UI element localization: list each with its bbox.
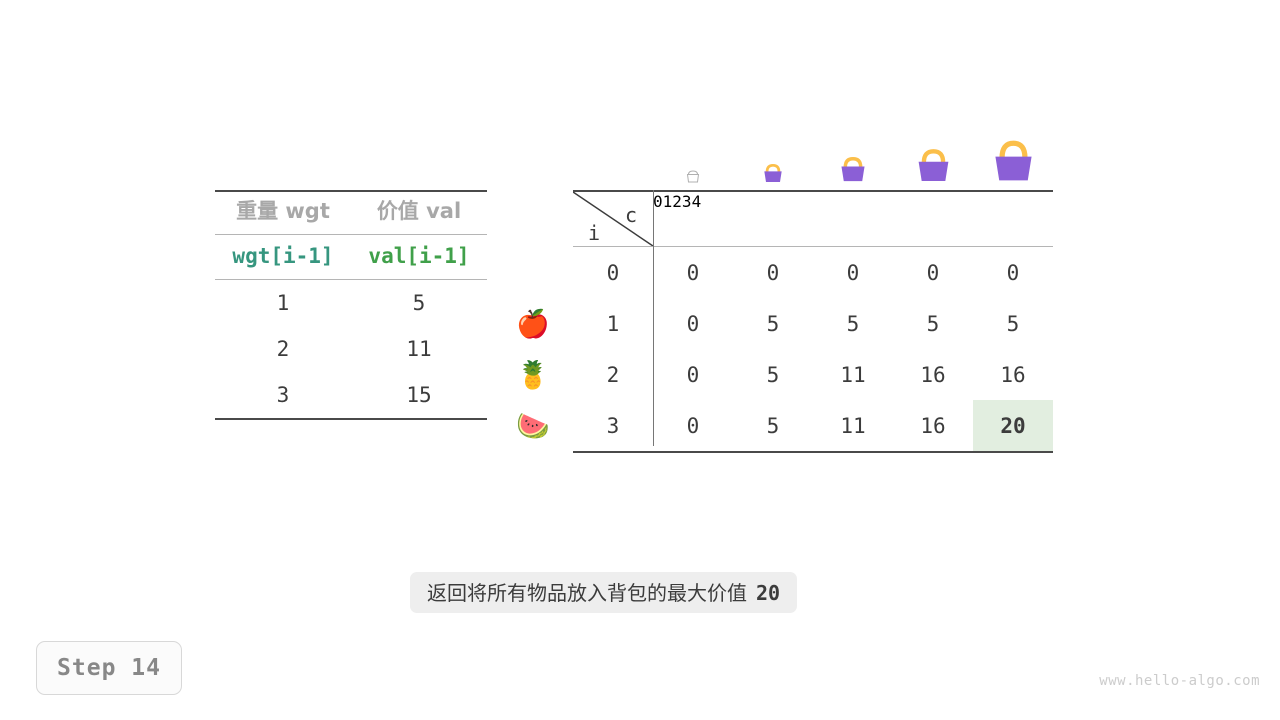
apple-emoji-icon: 🍎 (510, 298, 556, 349)
dp-cell-3-0: 0 (653, 400, 733, 451)
dp-cell-0-1: 0 (733, 247, 813, 298)
watermelon-emoji-icon: 🍉 (510, 400, 556, 451)
watermark: www.hello-algo.com (1099, 674, 1260, 688)
bag-capacity-2-icon (813, 148, 893, 188)
dp-cell-0-2: 0 (813, 247, 893, 298)
dp-row-header-0: 0 (573, 247, 653, 298)
dp-cell-0-3: 0 (893, 247, 973, 298)
dp-cell-0-0: 0 (653, 247, 733, 298)
item-weight-2: 2 (215, 326, 351, 372)
dp-table: c i 0 1 2 3 4 0 0 0 0 0 0 1 0 5 5 5 5 2 … (573, 190, 1053, 453)
table-row: 0 0 0 0 0 0 (573, 247, 1053, 298)
items-table-header-row: 重量 wgt 价值 val (215, 192, 487, 234)
dp-cell-2-0: 0 (653, 349, 733, 400)
bag-capacity-3-icon (893, 139, 973, 188)
dp-cell-1-4: 5 (973, 298, 1053, 349)
items-header-value: 价值 val (351, 192, 487, 234)
dp-cell-2-2: 11 (813, 349, 893, 400)
items-var-val: val[i-1] (351, 235, 487, 279)
dp-cell-2-1: 5 (733, 349, 813, 400)
result-caption-text: 返回将所有物品放入背包的最大价值 (427, 583, 747, 603)
dp-col-header-1: 1 (663, 192, 673, 246)
dp-cell-0-4: 0 (973, 247, 1053, 298)
item-value-2: 11 (351, 326, 487, 372)
item-weight-1: 1 (215, 280, 351, 326)
dp-cell-3-2: 11 (813, 400, 893, 451)
dp-table-bottom-rule (573, 451, 1053, 453)
dp-col-header-4: 4 (692, 192, 702, 246)
dp-cell-2-3: 16 (893, 349, 973, 400)
items-table-variable-row: wgt[i-1] val[i-1] (215, 235, 487, 279)
dp-row-header-1: 1 (573, 298, 653, 349)
dp-cell-1-0: 0 (653, 298, 733, 349)
dp-cell-2-4: 16 (973, 349, 1053, 400)
table-row: 3 15 (215, 372, 487, 418)
dp-cell-3-4-highlighted: 20 (973, 400, 1053, 451)
step-badge-label: Step 14 (57, 657, 161, 680)
dp-cell-1-3: 5 (893, 298, 973, 349)
result-caption: 返回将所有物品放入背包的最大价值 20 (410, 572, 797, 613)
table-row: 2 0 5 11 16 16 (573, 349, 1053, 400)
dp-col-header-2: 2 (672, 192, 682, 246)
item-value-3: 15 (351, 372, 487, 418)
items-header-weight: 重量 wgt (215, 192, 351, 234)
item-weight-3: 3 (215, 372, 351, 418)
dp-table-corner-header: c i 0 1 2 3 4 (573, 192, 1053, 246)
dp-cell-3-3: 16 (893, 400, 973, 451)
step-badge: Step 14 (36, 641, 182, 695)
items-var-wgt: wgt[i-1] (215, 235, 351, 279)
item-value-1: 5 (351, 280, 487, 326)
dp-cell-1-2: 5 (813, 298, 893, 349)
items-table-bottom-rule (215, 418, 487, 420)
table-row: 3 0 5 11 16 20 (573, 400, 1053, 451)
dp-cell-1-1: 5 (733, 298, 813, 349)
dp-row-header-3: 3 (573, 400, 653, 451)
diagonal-divider-icon (573, 192, 653, 246)
dp-col-axis-label: c (625, 205, 637, 225)
dp-cell-3-1: 5 (733, 400, 813, 451)
items-table: 重量 wgt 价值 val wgt[i-1] val[i-1] 1 5 2 11… (215, 190, 487, 420)
bag-capacity-4-icon (973, 129, 1053, 188)
pineapple-emoji-icon: 🍍 (510, 349, 556, 400)
table-row: 2 11 (215, 326, 487, 372)
dp-row-header-2: 2 (573, 349, 653, 400)
dp-col-header-3: 3 (682, 192, 692, 246)
dp-col-header-0: 0 (653, 192, 663, 246)
bag-capacity-0-icon (653, 166, 733, 188)
bag-capacity-1-icon (733, 156, 813, 188)
table-row: 1 5 (215, 280, 487, 326)
table-row: 1 0 5 5 5 5 (573, 298, 1053, 349)
dp-row-axis-label: i (588, 223, 600, 243)
result-caption-value: 20 (756, 583, 780, 603)
bag-capacity-row (653, 120, 1053, 188)
item-icon-column: 🍎 🍍 🍉 (510, 298, 556, 451)
